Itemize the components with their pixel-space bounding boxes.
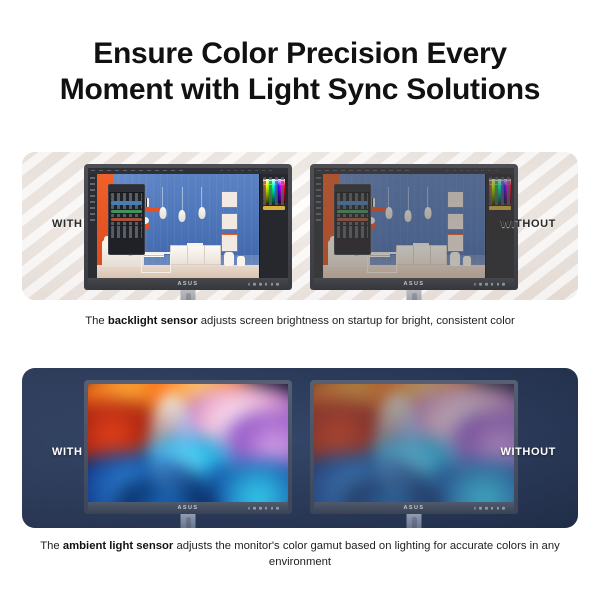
pendant-lamp-icon [162,187,163,208]
monitor-with-ambient: ASUS [84,380,292,514]
monitor-chin: ASUS [88,278,288,290]
osd-buttons[interactable] [248,507,280,510]
monitor-screen [314,384,514,502]
app-tool-palette [108,184,144,255]
pendant-lamp-icon [388,187,389,208]
asus-logo: ASUS [178,505,199,511]
panel2-label-without: WITHOUT [500,446,556,458]
panel2-label-with: WITH [52,446,83,458]
photo-editor-app [88,168,288,278]
scene-picture-frame [447,191,464,209]
scene-pot [463,256,470,265]
monitor-without-backlight: ASUS [310,164,518,290]
asus-logo: ASUS [404,281,425,287]
monitor-stand [181,514,196,528]
monitor-bezel: ASUS [310,380,518,514]
osd-buttons[interactable] [248,283,280,286]
asus-logo: ASUS [178,281,199,287]
scene-picture-frame [221,191,238,209]
scene-bowl [413,243,429,247]
monitor-stand [407,514,422,528]
page-title: Ensure Color Precision Every Moment with… [0,36,600,108]
caption-ambient-light-sensor: The ambient light sensor adjusts the mon… [28,538,572,570]
monitor-bezel: ASUS [84,164,292,290]
poster-canvas: Ensure Color Precision Every Moment with… [0,0,600,600]
photo-editor-app [314,168,514,278]
scene-pot [224,252,234,266]
monitor-stand [181,290,196,300]
monitor-chin: ASUS [314,278,514,290]
scene-magazines [144,254,164,257]
scene-sideboard [396,245,447,265]
scene-picture-frame [221,213,238,231]
monitor-stand [407,290,422,300]
scene-picture-frame [447,234,464,252]
headline-line-2: Moment with Light Sync Solutions [0,72,600,108]
abstract-wallpaper [314,384,514,502]
scene-picture-frame [447,213,464,231]
caption1-prefix: The [85,315,108,327]
monitor-chin: ASUS [314,502,514,514]
panel1-label-with: WITH [52,218,83,230]
app-canvas [323,174,486,278]
monitor-screen [314,168,514,278]
scene-pot [237,256,244,265]
monitor-without-ambient: ASUS [310,380,518,514]
pendant-lamp-icon [201,187,202,208]
wallpaper-vivid [88,384,288,502]
monitor-with-backlight: ASUS [84,164,292,290]
scene-sideboard [170,245,221,265]
abstract-wallpaper [88,384,288,502]
wallpaper-muted [314,384,514,502]
scene-pot [450,252,460,266]
headline-line-1: Ensure Color Precision Every [93,37,506,70]
panel1-label-without: WITHOUT [500,218,556,230]
monitor-screen [88,168,288,278]
panel-backlight-sensor: WITH WITHOUT [22,152,578,300]
pendant-lamp-icon [408,187,409,211]
monitor-bezel: ASUS [84,380,292,514]
app-tool-palette [334,184,370,255]
caption2-bold: ambient light sensor [63,540,173,552]
app-color-panel [259,174,288,278]
caption2-suffix: adjusts the monitor's color gamut based … [173,540,559,568]
osd-buttons[interactable] [474,507,506,510]
pendant-lamp-icon [427,187,428,208]
caption2-prefix: The [40,540,63,552]
scene-magazines [370,254,390,257]
osd-buttons[interactable] [474,283,506,286]
caption1-bold: backlight sensor [108,315,198,327]
panel-ambient-light-sensor: WITH WITHOUT [22,368,578,528]
asus-logo: ASUS [404,505,425,511]
monitor-chin: ASUS [88,502,288,514]
monitor-bezel: ASUS [310,164,518,290]
monitor-screen [88,384,288,502]
caption-backlight-sensor: The backlight sensor adjusts screen brig… [28,313,572,329]
scene-picture-frame [221,234,238,252]
pendant-lamp-icon [182,187,183,211]
scene-bowl [187,243,203,247]
app-canvas [97,174,260,278]
caption1-suffix: adjusts screen brightness on startup for… [198,315,515,327]
